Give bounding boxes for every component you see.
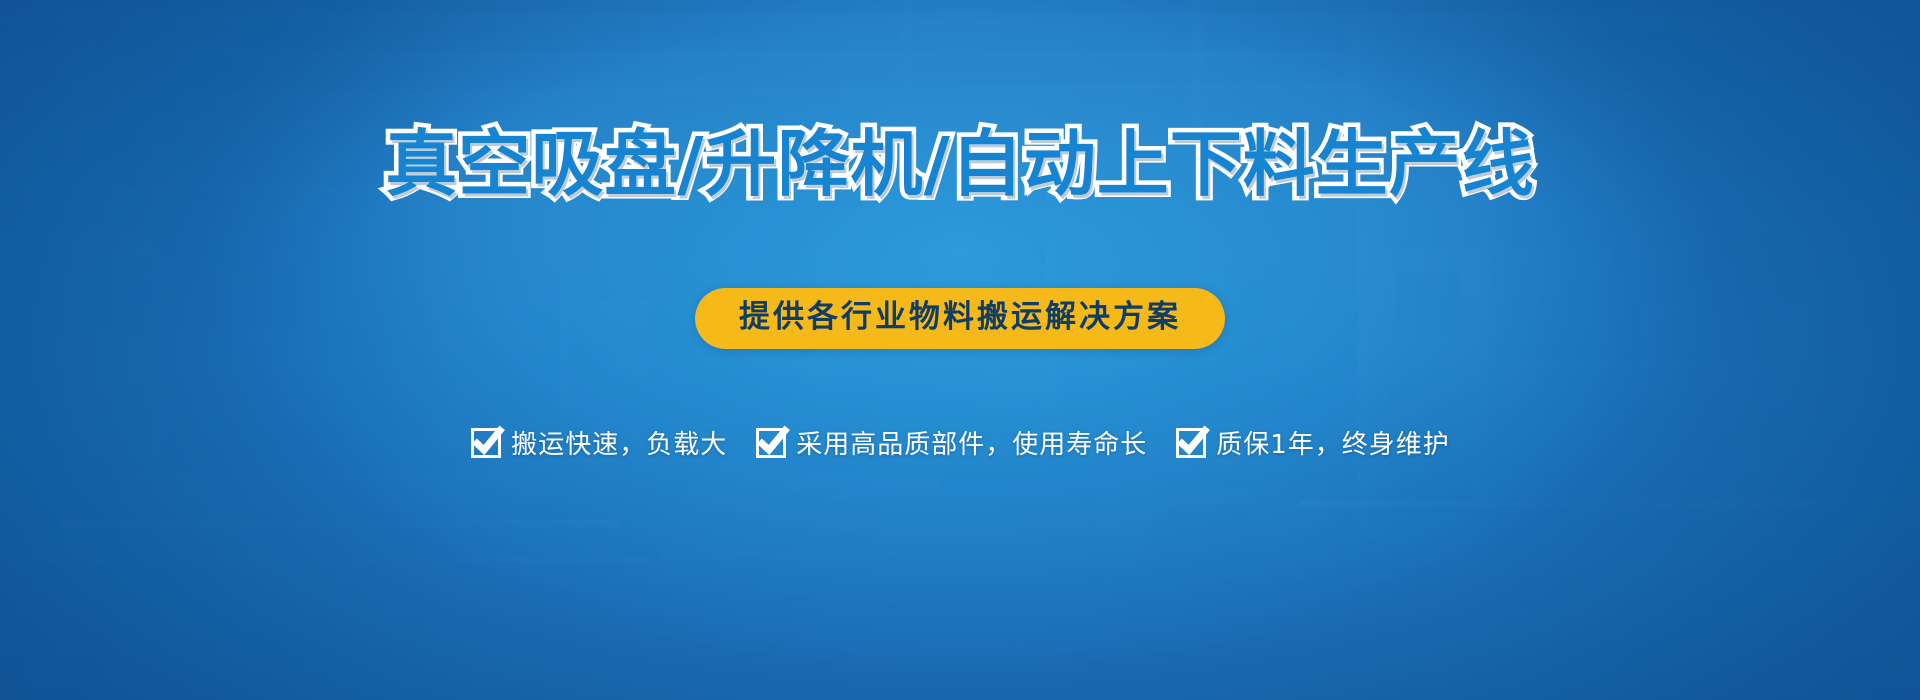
subtitle-pill-container: 提供各行业物料搬运解决方案 [0,288,1920,349]
checkbox-check-icon [755,427,787,459]
feature-list: 搬运快速，负载大 采用高品质部件，使用寿命长 [0,424,1920,461]
feature-label: 采用高品质部件，使用寿命长 [796,424,1147,461]
banner-title: 真空吸盘/升降机/自动上下料生产线 [0,128,1920,200]
feature-item-1: 搬运快速，负载大 [470,424,727,461]
hero-banner: 真空吸盘/升降机/自动上下料生产线 提供各行业物料搬运解决方案 搬运快速，负载大 [0,0,1920,700]
checkbox-check-icon [1175,427,1207,459]
banner-content: 真空吸盘/升降机/自动上下料生产线 提供各行业物料搬运解决方案 搬运快速，负载大 [0,0,1920,700]
feature-item-3: 质保1年，终身维护 [1175,424,1450,461]
feature-item-2: 采用高品质部件，使用寿命长 [755,424,1147,461]
checkbox-check-icon [470,427,502,459]
subtitle-pill: 提供各行业物料搬运解决方案 [695,288,1225,349]
feature-label: 质保1年，终身维护 [1216,424,1450,461]
feature-label: 搬运快速，负载大 [511,424,727,461]
